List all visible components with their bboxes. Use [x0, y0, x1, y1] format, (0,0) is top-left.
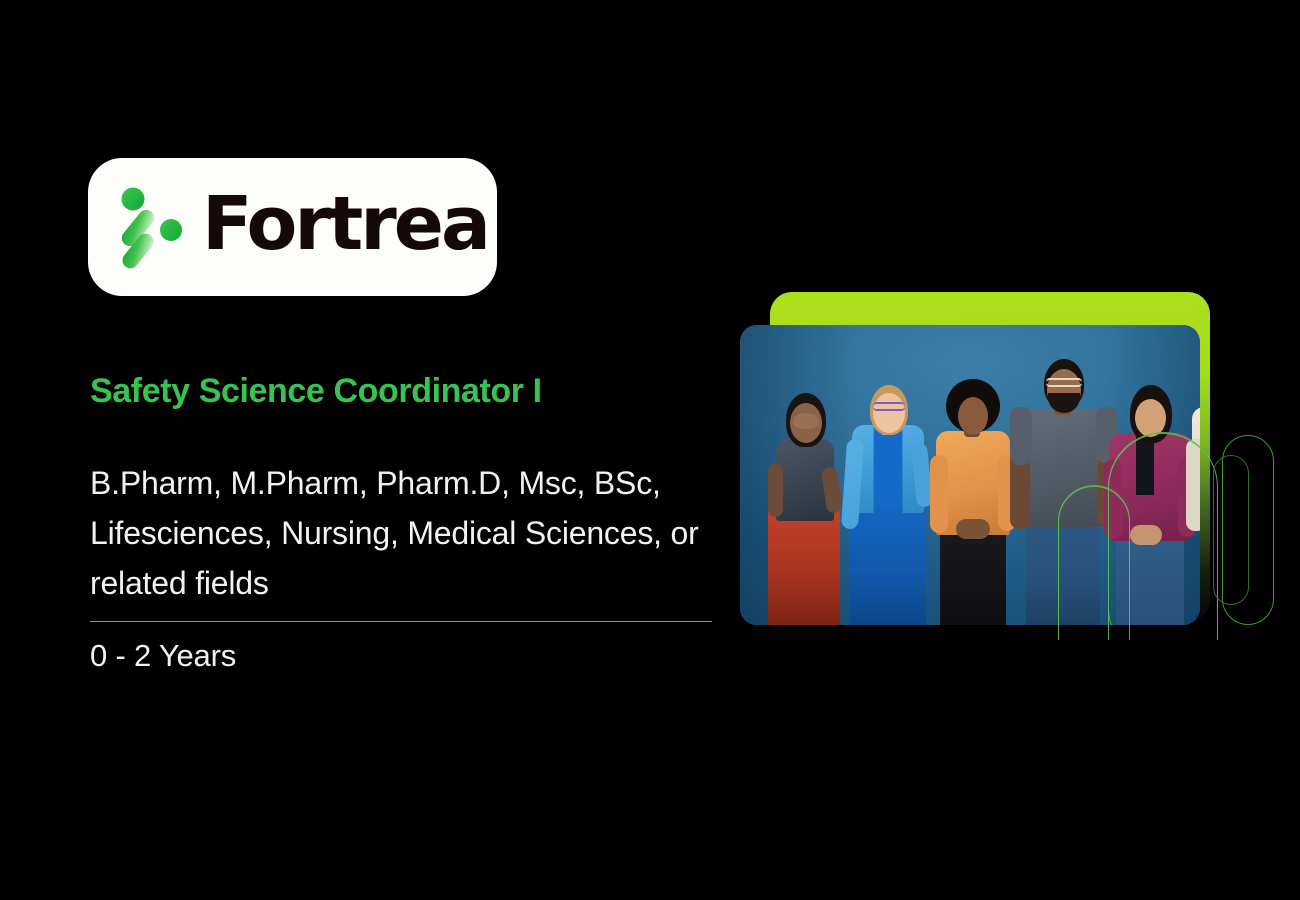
skirt [768, 507, 840, 625]
glasses-icon [1046, 378, 1082, 387]
visual-cluster [0, 0, 1300, 900]
pill-outline-4 [1213, 455, 1249, 605]
face [793, 413, 819, 429]
bottom-mask [1040, 640, 1300, 760]
glasses-icon [873, 402, 905, 411]
sleeve-left [1010, 407, 1032, 465]
arm-left [768, 463, 783, 517]
head [873, 393, 905, 433]
head [958, 397, 988, 435]
job-card-banner: Fortrea Safety Science Coordinator I B.P… [0, 0, 1300, 900]
clasped-hands [956, 519, 990, 539]
photo-person-2 [840, 377, 940, 625]
arm-left [930, 455, 948, 533]
photo-person-1 [762, 393, 852, 625]
